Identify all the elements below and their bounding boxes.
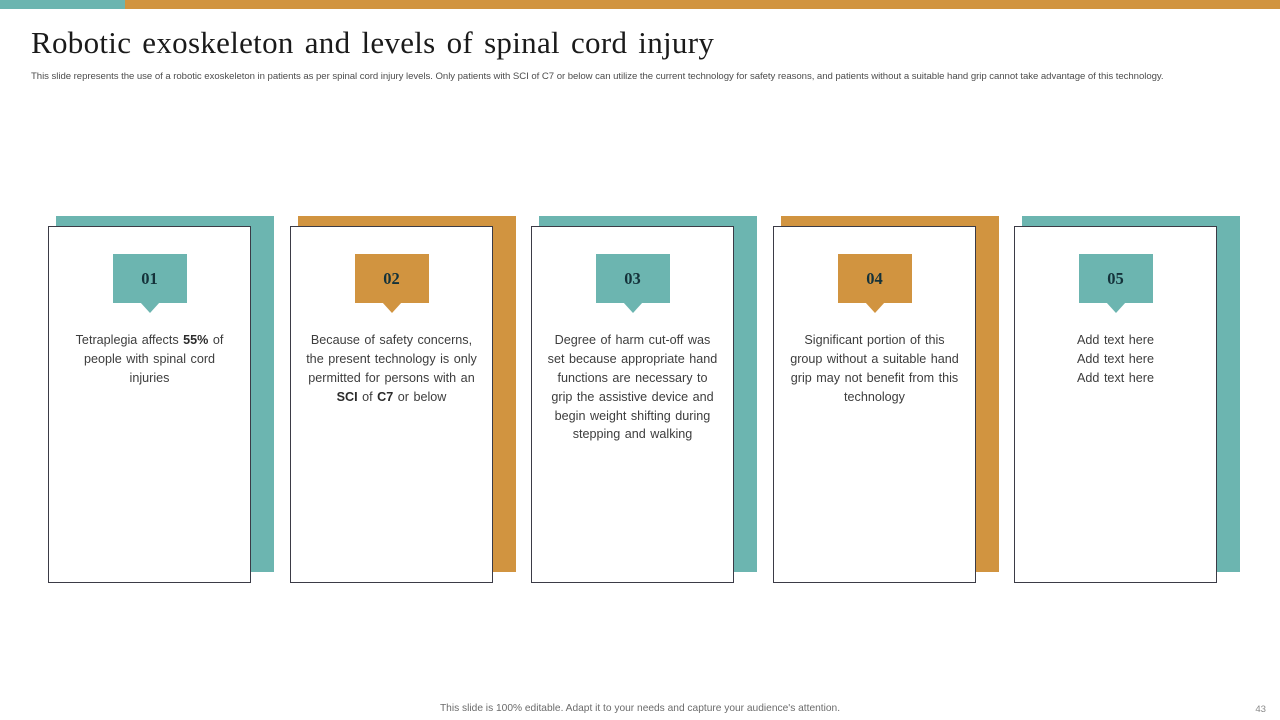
- card-number-label: 05: [1107, 269, 1124, 289]
- badge-pointer-icon: [382, 302, 402, 313]
- card-row: 01 Tetraplegia affects 55% of people wit…: [0, 216, 1280, 586]
- card-number-badge: 04: [838, 254, 912, 303]
- card-number-badge: 03: [596, 254, 670, 303]
- card-number-label: 03: [624, 269, 641, 289]
- badge-pointer-icon: [623, 302, 643, 313]
- card-body: 01 Tetraplegia affects 55% of people wit…: [48, 226, 251, 583]
- page-number: 43: [1255, 704, 1266, 715]
- info-card-04[interactable]: 04 Significant portion of this group wit…: [773, 216, 999, 584]
- card-badge-holder: 02: [291, 227, 492, 305]
- card-number-badge: 05: [1079, 254, 1153, 303]
- info-card-01[interactable]: 01 Tetraplegia affects 55% of people wit…: [48, 216, 274, 584]
- card-number-label: 02: [383, 269, 400, 289]
- card-number-badge: 01: [113, 254, 187, 303]
- card-text: Add text hereAdd text hereAdd text here: [1015, 305, 1216, 388]
- slide-description: This slide represents the use of a robot…: [0, 61, 1215, 84]
- card-badge-holder: 03: [532, 227, 733, 305]
- badge-pointer-icon: [140, 302, 160, 313]
- info-card-05[interactable]: 05 Add text hereAdd text hereAdd text he…: [1014, 216, 1240, 584]
- card-badge-holder: 04: [774, 227, 975, 305]
- info-card-03[interactable]: 03 Degree of harm cut-off was set becaus…: [531, 216, 757, 584]
- card-number-label: 01: [141, 269, 158, 289]
- top-accent-bar: [0, 0, 1280, 9]
- card-body: 05 Add text hereAdd text hereAdd text he…: [1014, 226, 1217, 583]
- badge-pointer-icon: [865, 302, 885, 313]
- card-number-label: 04: [866, 269, 883, 289]
- card-number-badge: 02: [355, 254, 429, 303]
- badge-pointer-icon: [1106, 302, 1126, 313]
- card-text: Significant portion of this group withou…: [774, 305, 975, 407]
- top-accent-bar-teal-segment: [0, 0, 125, 9]
- top-accent-bar-orange-segment: [125, 0, 1280, 9]
- card-body: 04 Significant portion of this group wit…: [773, 226, 976, 583]
- info-card-02[interactable]: 02 Because of safety concerns, the prese…: [290, 216, 516, 584]
- footer-note: This slide is 100% editable. Adapt it to…: [0, 703, 1280, 714]
- card-body: 03 Degree of harm cut-off was set becaus…: [531, 226, 734, 583]
- card-badge-holder: 01: [49, 227, 250, 305]
- card-badge-holder: 05: [1015, 227, 1216, 305]
- slide-header: Robotic exoskeleton and levels of spinal…: [0, 9, 1280, 84]
- card-text: Degree of harm cut-off was set because a…: [532, 305, 733, 444]
- page-title: Robotic exoskeleton and levels of spinal…: [0, 9, 1280, 61]
- card-text: Because of safety concerns, the present …: [291, 305, 492, 407]
- card-body: 02 Because of safety concerns, the prese…: [290, 226, 493, 583]
- card-text: Tetraplegia affects 55% of people with s…: [49, 305, 250, 388]
